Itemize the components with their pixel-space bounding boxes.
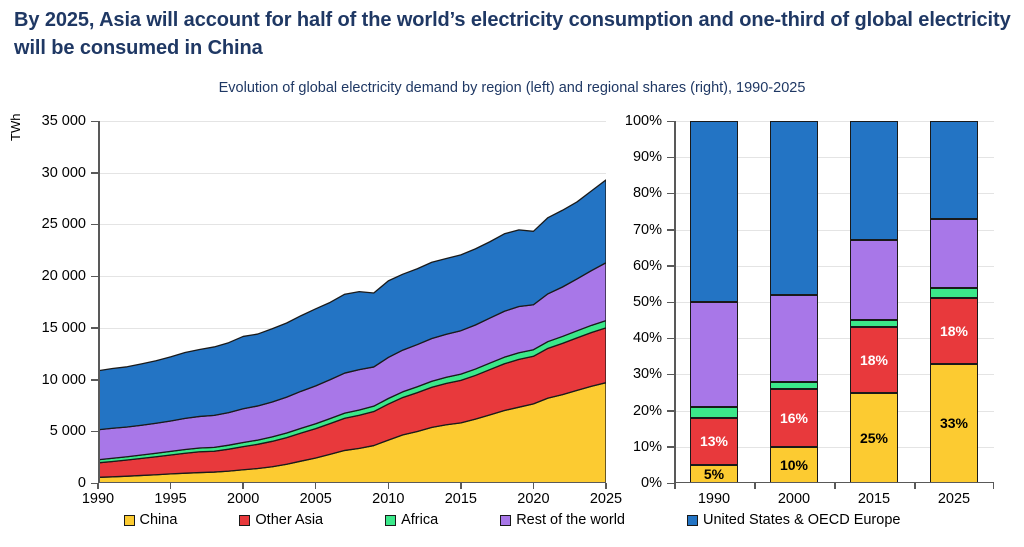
stacked-area-series bbox=[98, 121, 606, 483]
y-tick-mark bbox=[91, 121, 98, 123]
legend-swatch-icon bbox=[500, 515, 511, 526]
bar-segment[interactable]: 25% bbox=[850, 393, 898, 484]
y-tick-mark bbox=[91, 431, 98, 433]
chart-subtitle: Evolution of global electricity demand b… bbox=[0, 80, 1024, 96]
chart-legend: ChinaOther AsiaAfricaRest of the worldUn… bbox=[0, 512, 1024, 528]
bar-segment-label: 13% bbox=[700, 434, 728, 448]
bar-chart-panel: 5%13%10%16%25%18%33%18% 1990200020152025… bbox=[620, 105, 1024, 500]
x-tick-mark bbox=[315, 483, 317, 489]
bar-segment-label: 5% bbox=[704, 467, 724, 481]
legend-label: Africa bbox=[401, 512, 438, 528]
x-tick-label: 1990 bbox=[82, 491, 114, 507]
y-tick-label: 0% bbox=[641, 475, 662, 491]
bar-segment-label: 18% bbox=[940, 324, 968, 338]
y-tick-label: 0 bbox=[78, 475, 86, 491]
y-tick-label: 10 000 bbox=[42, 372, 86, 388]
legend-label: Other Asia bbox=[255, 512, 323, 528]
y-tick-label: 5 000 bbox=[50, 423, 86, 439]
x-tick-mark bbox=[460, 483, 462, 489]
page-title: By 2025, Asia will account for half of t… bbox=[14, 6, 1014, 62]
y-tick-mark bbox=[667, 265, 674, 267]
x-tick-mark bbox=[674, 483, 676, 489]
x-tick-mark bbox=[834, 483, 836, 489]
y-tick-mark bbox=[91, 172, 98, 174]
bar-segment[interactable] bbox=[930, 121, 978, 219]
bar-segment[interactable] bbox=[690, 121, 738, 302]
bar-segment[interactable] bbox=[850, 240, 898, 320]
y-tick-label: 35 000 bbox=[42, 113, 86, 129]
bar-segment[interactable]: 16% bbox=[770, 389, 818, 447]
legend-swatch-icon bbox=[385, 515, 396, 526]
y-tick-label: 90% bbox=[633, 149, 662, 165]
bar-segment[interactable] bbox=[770, 382, 818, 389]
y-tick-label: 25 000 bbox=[42, 216, 86, 232]
legend-label: Rest of the world bbox=[516, 512, 625, 528]
bar-segment[interactable] bbox=[930, 219, 978, 288]
y-tick-mark bbox=[667, 121, 674, 123]
y-tick-mark bbox=[91, 379, 98, 381]
y-tick-mark bbox=[91, 327, 98, 329]
bar-segment[interactable] bbox=[770, 121, 818, 295]
bar-segment[interactable]: 18% bbox=[850, 327, 898, 392]
y-tick-label: 20% bbox=[633, 403, 662, 419]
y-tick-mark bbox=[91, 276, 98, 278]
legend-label: China bbox=[140, 512, 178, 528]
y-tick-label: 30% bbox=[633, 366, 662, 382]
y-tick-mark bbox=[91, 483, 98, 485]
bar-segment[interactable] bbox=[850, 320, 898, 327]
x-tick-label: 2005 bbox=[300, 491, 332, 507]
y-tick-label: 20 000 bbox=[42, 268, 86, 284]
left-x-axis bbox=[98, 482, 606, 484]
y-tick-label: 15 000 bbox=[42, 320, 86, 336]
y-tick-label: 40% bbox=[633, 330, 662, 346]
bar-segment[interactable] bbox=[930, 288, 978, 299]
bar-segment[interactable]: 10% bbox=[770, 447, 818, 483]
x-tick-mark bbox=[754, 483, 756, 489]
y-tick-mark bbox=[667, 302, 674, 304]
x-tick-label: 2015 bbox=[858, 491, 890, 507]
bar-segment[interactable] bbox=[770, 295, 818, 382]
right-y-axis bbox=[674, 121, 676, 483]
legend-item[interactable]: China bbox=[124, 512, 178, 528]
x-tick-mark bbox=[914, 483, 916, 489]
y-tick-label: 80% bbox=[633, 185, 662, 201]
y-tick-label: 70% bbox=[633, 222, 662, 238]
left-y-axis bbox=[98, 121, 100, 483]
x-tick-label: 1990 bbox=[698, 491, 730, 507]
legend-swatch-icon bbox=[124, 515, 135, 526]
bar-segment[interactable] bbox=[690, 302, 738, 407]
legend-item[interactable]: United States & OECD Europe bbox=[687, 512, 900, 528]
legend-item[interactable]: Africa bbox=[385, 512, 438, 528]
bar-column[interactable]: 10%16% bbox=[770, 121, 818, 483]
x-tick-mark bbox=[388, 483, 390, 489]
x-tick-label: 2020 bbox=[517, 491, 549, 507]
bar-column[interactable]: 5%13% bbox=[690, 121, 738, 483]
bar-plot-area: 5%13%10%16%25%18%33%18% 1990200020152025… bbox=[674, 121, 994, 483]
x-tick-mark bbox=[993, 483, 995, 489]
x-tick-mark bbox=[533, 483, 535, 489]
bar-segment[interactable]: 18% bbox=[930, 298, 978, 363]
legend-label: United States & OECD Europe bbox=[703, 512, 900, 528]
bar-segment-label: 33% bbox=[940, 416, 968, 430]
y-tick-label: 50% bbox=[633, 294, 662, 310]
x-tick-label: 2010 bbox=[372, 491, 404, 507]
bar-segment[interactable]: 5% bbox=[690, 465, 738, 483]
legend-item[interactable]: Other Asia bbox=[239, 512, 323, 528]
bar-segment-label: 10% bbox=[780, 458, 808, 472]
y-tick-mark bbox=[667, 157, 674, 159]
x-tick-label: 2025 bbox=[938, 491, 970, 507]
x-tick-label: 1995 bbox=[154, 491, 186, 507]
x-tick-label: 2000 bbox=[778, 491, 810, 507]
bar-segment-label: 25% bbox=[860, 431, 888, 445]
y-axis-title-left: TWh bbox=[8, 114, 23, 141]
y-tick-mark bbox=[667, 229, 674, 231]
y-tick-mark bbox=[667, 446, 674, 448]
bar-segment[interactable] bbox=[690, 407, 738, 418]
y-tick-label: 60% bbox=[633, 258, 662, 274]
x-tick-mark bbox=[242, 483, 244, 489]
y-tick-mark bbox=[667, 193, 674, 195]
x-tick-mark bbox=[170, 483, 172, 489]
legend-swatch-icon bbox=[687, 515, 698, 526]
legend-item[interactable]: Rest of the world bbox=[500, 512, 625, 528]
area-plot-area: 19901995200020052010201520202025 05 0001… bbox=[98, 121, 606, 483]
x-tick-label: 2025 bbox=[590, 491, 622, 507]
y-tick-label: 10% bbox=[633, 439, 662, 455]
y-tick-mark bbox=[667, 374, 674, 376]
bar-segment[interactable]: 33% bbox=[930, 364, 978, 483]
x-tick-mark bbox=[605, 483, 607, 489]
bar-column[interactable]: 33%18% bbox=[930, 121, 978, 483]
bar-segment[interactable]: 13% bbox=[690, 418, 738, 465]
y-tick-label: 100% bbox=[625, 113, 662, 129]
y-tick-label: 30 000 bbox=[42, 165, 86, 181]
chart-page: By 2025, Asia will account for half of t… bbox=[0, 0, 1024, 547]
bar-segment[interactable] bbox=[850, 121, 898, 240]
x-tick-label: 2015 bbox=[445, 491, 477, 507]
y-tick-mark bbox=[667, 410, 674, 412]
y-tick-mark bbox=[91, 224, 98, 226]
bar-column[interactable]: 25%18% bbox=[850, 121, 898, 483]
bar-segment-label: 18% bbox=[860, 353, 888, 367]
bar-segment-label: 16% bbox=[780, 411, 808, 425]
legend-swatch-icon bbox=[239, 515, 250, 526]
y-tick-mark bbox=[667, 338, 674, 340]
y-tick-mark bbox=[667, 483, 674, 485]
x-tick-label: 2000 bbox=[227, 491, 259, 507]
area-chart-panel: TWh 19901995200020052010201520202025 05 … bbox=[0, 105, 620, 500]
